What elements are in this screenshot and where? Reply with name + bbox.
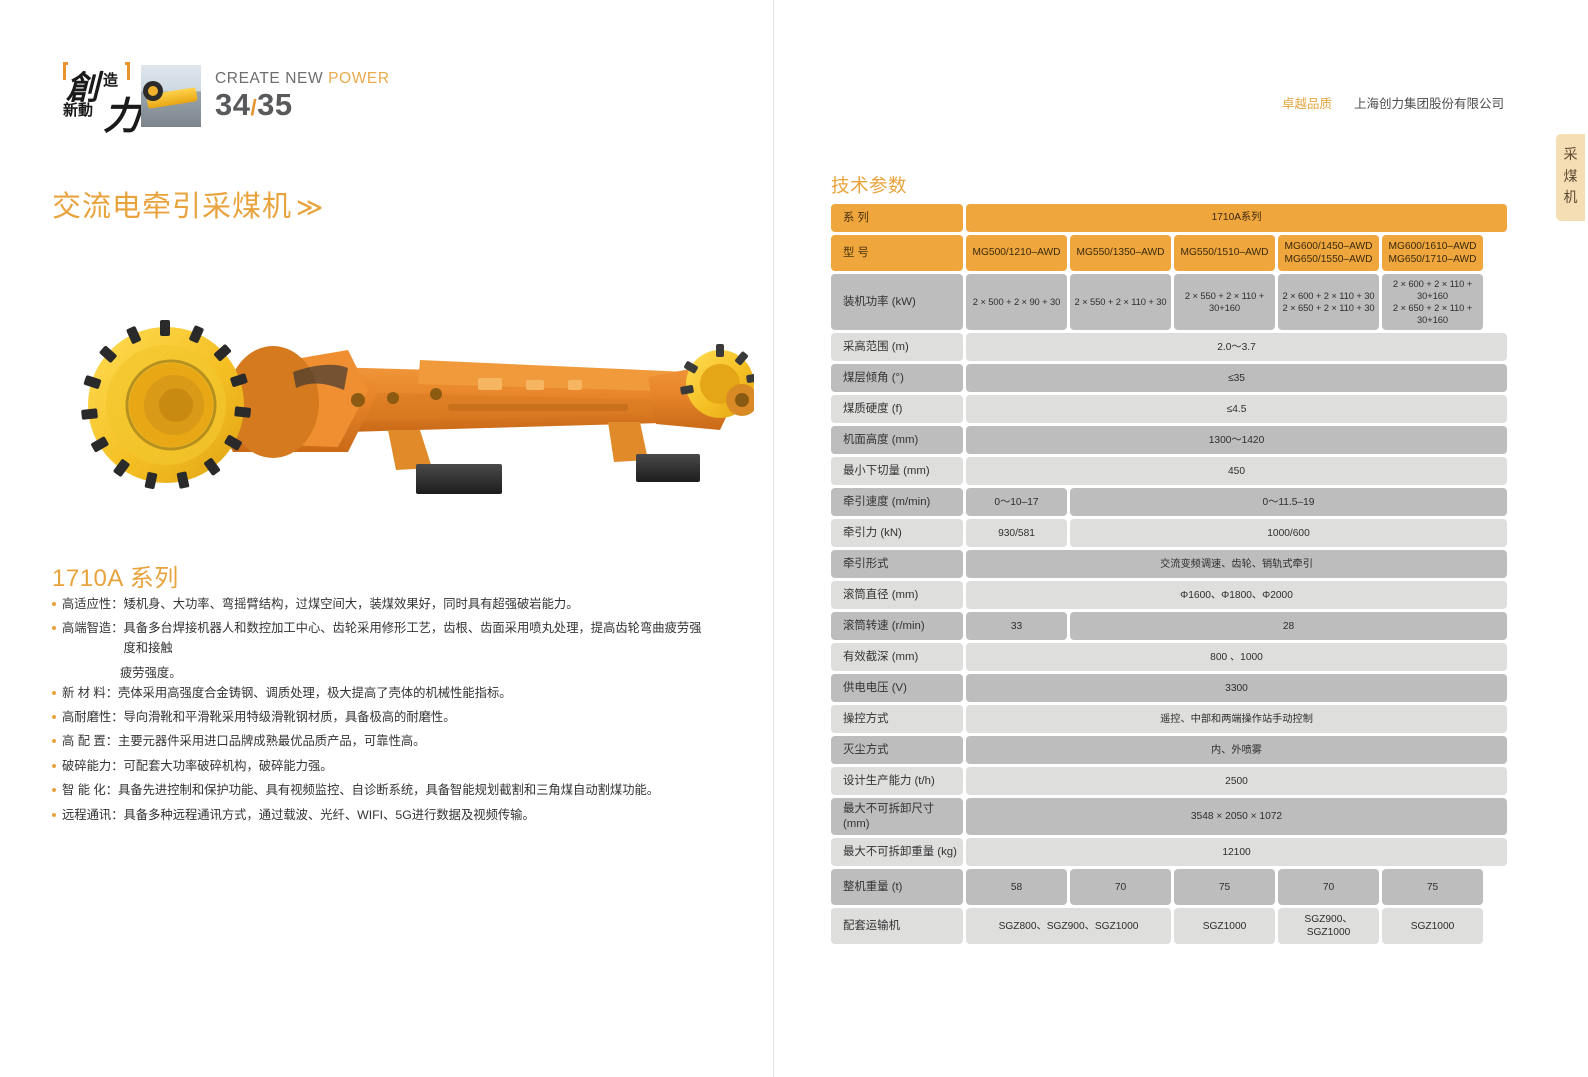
table-cell: MG600/1450–AWD MG650/1550–AWD [1278, 235, 1379, 271]
logo-photo-thumbnail [141, 65, 201, 127]
table-cell: 2 × 550 + 2 × 110 + 30 [1070, 274, 1171, 330]
table-cell: MG550/1510–AWD [1174, 235, 1275, 271]
table-row: 最大不可拆卸尺寸 (mm)3548 × 2050 × 1072 [831, 798, 1507, 835]
table-row-label: 供电电压 (V) [831, 674, 963, 702]
logo-frame-right-icon [125, 62, 130, 80]
table-cell: 内、外喷雾 [966, 736, 1507, 764]
table-row-label: 采高范围 (m) [831, 333, 963, 361]
table-row: 牵引力 (kN)930/5811000/600 [831, 519, 1507, 547]
table-cell: MG500/1210–AWD [966, 235, 1067, 271]
bullet-dot-icon [52, 626, 56, 630]
table-cell: MG550/1350–AWD [1070, 235, 1171, 271]
table-cell: 2 × 550 + 2 × 110 + 30+160 [1174, 274, 1275, 330]
table-row-label: 系 列 [831, 204, 963, 232]
feature-label: 远程通讯： [62, 806, 124, 826]
feature-label: 高适应性： [62, 595, 124, 615]
table-row-label: 最大不可拆卸尺寸 (mm) [831, 798, 963, 835]
table-row-label: 型 号 [831, 235, 963, 271]
tech-params-heading: 技术参数 [831, 172, 907, 198]
feature-item: 智 能 化：具备先进控制和保护功能、具有视频监控、自诊断系统，具备智能规划截割和… [52, 781, 712, 801]
table-cell: 2 × 600 + 2 × 110 + 30 2 × 650 + 2 × 110… [1278, 274, 1379, 330]
table-cell: 1000/600 [1070, 519, 1507, 547]
table-row: 牵引形式交流变频调速、齿轮、销轨式牵引 [831, 550, 1507, 578]
table-row: 采高范围 (m)2.0～3.7 [831, 333, 1507, 361]
catalog-page: 創 造 新動 力 CREATE NEW POWER 34/35 卓越品质上海创力… [0, 0, 1588, 1077]
table-row-label: 最大不可拆卸重量 (kg) [831, 838, 963, 866]
table-cell: 2 × 600 + 2 × 110 + 30+160 2 × 650 + 2 ×… [1382, 274, 1483, 330]
table-row: 煤质硬度 (f)≤4.5 [831, 395, 1507, 423]
table-cell: 0～10–17 [966, 488, 1067, 516]
table-row-label: 煤质硬度 (f) [831, 395, 963, 423]
page-number: 34/35 [215, 89, 390, 122]
feature-text-continued: 疲劳强度。 [52, 664, 712, 684]
table-cell: 交流变频调速、齿轮、销轨式牵引 [966, 550, 1507, 578]
page-title-text: 交流电牵引采煤机 [52, 191, 292, 223]
table-cell: 12100 [966, 838, 1507, 866]
feature-list: 高适应性：矮机身、大功率、弯摇臂结构，过煤空间大，装煤效果好，同时具有超强破岩能… [52, 595, 712, 830]
table-row: 机面高度 (mm)1300～1420 [831, 426, 1507, 454]
table-cell: 75 [1174, 869, 1275, 905]
quality-mark: 卓越品质 [1282, 97, 1332, 111]
table-cell: 遥控、中部和两端操作站手动控制 [966, 705, 1507, 733]
table-cell: 1300～1420 [966, 426, 1507, 454]
logo-mark: 創 造 新動 力 [63, 62, 201, 130]
table-row-label: 配套运输机 [831, 908, 963, 944]
table-row-label: 牵引形式 [831, 550, 963, 578]
feature-item: 破碎能力：可配套大功率破碎机构，破碎能力强。 [52, 757, 712, 777]
column-divider [773, 0, 774, 1077]
table-cell: Φ1600、Φ1800、Φ2000 [966, 581, 1507, 609]
feature-text: 主要元器件采用进口品牌成熟最优品质产品，可靠性高。 [118, 732, 712, 752]
table-cell: SGZ900、 SGZ1000 [1278, 908, 1379, 944]
table-row: 煤层倾角 (°)≤35 [831, 364, 1507, 392]
feature-item: 远程通讯：具备多种远程通讯方式，通过载波、光纤、WIFI、5G进行数据及视频传输… [52, 806, 712, 826]
table-row-label: 灭尘方式 [831, 736, 963, 764]
table-cell: 2.0～3.7 [966, 333, 1507, 361]
chevron-right-icon: ≫ [296, 192, 324, 222]
table-row: 设计生产能力 (t/h)2500 [831, 767, 1507, 795]
table-cell: ≤4.5 [966, 395, 1507, 423]
table-row-label: 装机功率 (kW) [831, 274, 963, 330]
tagline-power: POWER [328, 70, 390, 87]
logo-chinese-calligraphy: 創 造 新動 力 [63, 63, 139, 129]
table-row-label: 整机重量 (t) [831, 869, 963, 905]
table-row: 配套运输机SGZ800、SGZ900、SGZ1000SGZ1000SGZ900、… [831, 908, 1507, 944]
table-row: 最大不可拆卸重量 (kg)12100 [831, 838, 1507, 866]
table-row-label: 牵引速度 (m/min) [831, 488, 963, 516]
table-row: 整机重量 (t)5870757075 [831, 869, 1507, 905]
table-row: 有效截深 (mm)800 、1000 [831, 643, 1507, 671]
table-cell: 3548 × 2050 × 1072 [966, 798, 1507, 835]
logo-char-li: 力 [103, 85, 141, 140]
side-tab-char-2: 机 [1556, 187, 1585, 209]
feature-text: 具备多种远程通讯方式，通过载波、光纤、WIFI、5G进行数据及视频传输。 [124, 806, 713, 826]
feature-text: 可配套大功率破碎机构，破碎能力强。 [124, 757, 713, 777]
table-cell: 58 [966, 869, 1067, 905]
feature-item: 高耐磨性：导向滑靴和平滑靴采用特级滑靴钢材质，具备极高的耐磨性。 [52, 708, 712, 728]
page-number-left: 34 [215, 87, 250, 122]
feature-item: 新 材 料：壳体采用高强度合金铸钢、调质处理，极大提高了壳体的机械性能指标。 [52, 684, 712, 704]
company-name: 上海创力集团股份有限公司 [1354, 97, 1504, 111]
table-row-label: 有效截深 (mm) [831, 643, 963, 671]
table-cell: ≤35 [966, 364, 1507, 392]
table-row: 型 号MG500/1210–AWDMG550/1350–AWDMG550/151… [831, 235, 1507, 271]
feature-text: 具备先进控制和保护功能、具有视频监控、自诊断系统，具备智能规划截割和三角煤自动割… [118, 781, 712, 801]
logo-drum-inner-icon [148, 86, 158, 96]
table-cell: 800 、1000 [966, 643, 1507, 671]
brand-logo: 創 造 新動 力 CREATE NEW POWER 34/35 [63, 62, 390, 130]
bullet-dot-icon [52, 602, 56, 606]
table-cell: 75 [1382, 869, 1483, 905]
bullet-dot-icon [52, 739, 56, 743]
table-cell: 2 × 500 + 2 × 90 + 30 [966, 274, 1067, 330]
table-row-label: 滚筒转速 (r/min) [831, 612, 963, 640]
bullet-dot-icon [52, 813, 56, 817]
side-tab-shearer[interactable]: 采 煤 机 [1556, 134, 1585, 221]
table-cell: 70 [1278, 869, 1379, 905]
table-cell: SGZ1000 [1174, 908, 1275, 944]
bullet-dot-icon [52, 715, 56, 719]
table-row-label: 设计生产能力 (t/h) [831, 767, 963, 795]
feature-label: 高端智造： [62, 619, 124, 639]
page-title: 交流电牵引采煤机≫ [52, 183, 324, 225]
table-cell: MG600/1610–AWD MG650/1710–AWD [1382, 235, 1483, 271]
table-cell: 3300 [966, 674, 1507, 702]
bullet-dot-icon [52, 691, 56, 695]
feature-text: 导向滑靴和平滑靴采用特级滑靴钢材质，具备极高的耐磨性。 [124, 708, 713, 728]
table-row: 牵引速度 (m/min)0～10–170～11.5–19 [831, 488, 1507, 516]
table-row: 滚筒直径 (mm)Φ1600、Φ1800、Φ2000 [831, 581, 1507, 609]
table-cell: SGZ1000 [1382, 908, 1483, 944]
table-row: 供电电压 (V)3300 [831, 674, 1507, 702]
table-row-label: 机面高度 (mm) [831, 426, 963, 454]
logo-text-block: CREATE NEW POWER 34/35 [215, 70, 390, 122]
table-row-label: 煤层倾角 (°) [831, 364, 963, 392]
tagline-create: CREATE NEW [215, 70, 328, 87]
feature-label: 高 配 置： [62, 732, 118, 752]
table-row: 滚筒转速 (r/min)3328 [831, 612, 1507, 640]
table-cell: 28 [1070, 612, 1507, 640]
feature-text: 具备多台焊接机器人和数控加工中心、齿轮采用修形工艺，齿根、齿面采用喷丸处理，提高… [124, 619, 713, 659]
table-cell: 450 [966, 457, 1507, 485]
shearer-illustration [48, 272, 754, 500]
feature-label: 智 能 化： [62, 781, 118, 801]
table-row-label: 操控方式 [831, 705, 963, 733]
table-row-label: 最小下切量 (mm) [831, 457, 963, 485]
logo-char-xindong: 新動 [63, 99, 93, 120]
table-cell: 70 [1070, 869, 1171, 905]
table-cell: SGZ800、SGZ900、SGZ1000 [966, 908, 1171, 944]
table-row: 装机功率 (kW)2 × 500 + 2 × 90 + 302 × 550 + … [831, 274, 1507, 330]
feature-label: 新 材 料： [62, 684, 118, 704]
table-row-label: 牵引力 (kN) [831, 519, 963, 547]
table-cell: 33 [966, 612, 1067, 640]
feature-item: 高适应性：矮机身、大功率、弯摇臂结构，过煤空间大，装煤效果好，同时具有超强破岩能… [52, 595, 712, 615]
table-row: 系 列1710A系列 [831, 204, 1507, 232]
table-cell: 2500 [966, 767, 1507, 795]
feature-item: 高端智造：具备多台焊接机器人和数控加工中心、齿轮采用修形工艺，齿根、齿面采用喷丸… [52, 619, 712, 659]
table-row: 灭尘方式内、外喷雾 [831, 736, 1507, 764]
feature-text: 矮机身、大功率、弯摇臂结构，过煤空间大，装煤效果好，同时具有超强破岩能力。 [124, 595, 713, 615]
table-row: 操控方式遥控、中部和两端操作站手动控制 [831, 705, 1507, 733]
side-tab-char-1: 煤 [1556, 166, 1585, 188]
feature-label: 破碎能力： [62, 757, 124, 777]
side-tab-char-0: 采 [1556, 144, 1585, 166]
bullet-dot-icon [52, 764, 56, 768]
series-title: 1710A 系列 [52, 558, 179, 593]
product-photo-shearer [48, 272, 754, 500]
tagline: CREATE NEW POWER [215, 70, 390, 88]
spec-table: 系 列1710A系列型 号MG500/1210–AWDMG550/1350–AW… [831, 204, 1507, 947]
table-row-label: 滚筒直径 (mm) [831, 581, 963, 609]
bullet-dot-icon [52, 788, 56, 792]
feature-item: 高 配 置：主要元器件采用进口品牌成熟最优品质产品，可靠性高。 [52, 732, 712, 752]
feature-text: 壳体采用高强度合金铸钢、调质处理，极大提高了壳体的机械性能指标。 [118, 684, 712, 704]
company-header: 卓越品质上海创力集团股份有限公司 [1282, 93, 1504, 112]
table-cell: 0～11.5–19 [1070, 488, 1507, 516]
feature-label: 高耐磨性： [62, 708, 124, 728]
table-cell: 1710A系列 [966, 204, 1507, 232]
table-row: 最小下切量 (mm)450 [831, 457, 1507, 485]
page-number-right: 35 [257, 87, 292, 122]
table-cell: 930/581 [966, 519, 1067, 547]
